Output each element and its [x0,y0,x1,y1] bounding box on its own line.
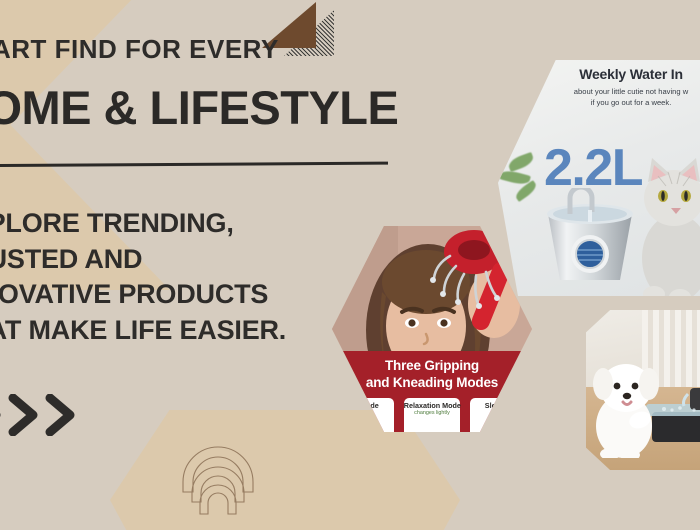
cat-photo-subtitle: about your little cutie not having w if … [536,86,700,108]
massager-caption-banner: Three Gripping and Kneading Modes [332,351,532,400]
mode-card-title: Relaxation Mode [404,401,460,410]
eyebrow-text: SMART FIND FOR EVERY [0,36,362,62]
massager-caption-line-2: and Kneading Modes [332,375,532,391]
chevron-right-icon [44,394,78,436]
mode-card-title: n Mode [338,401,394,410]
mode-card-title: Sleep P [470,401,526,410]
plant-leaf-decoration [507,152,536,172]
chevron-arrow-group [0,394,78,436]
cat-subtitle-line-1: about your little cutie not having w [536,86,700,97]
arch-outline-logo [173,446,263,520]
cat-photo-title: Weekly Water In [536,66,700,82]
cat-photo-caption: Weekly Water In about your little cutie … [536,66,700,108]
cat-subtitle-line-2: if you go out for a week. [536,97,700,108]
mode-card: Sleep P Light [470,398,526,432]
mode-card-subtitle: Light [470,410,526,416]
title-divider [0,162,388,168]
page-title: HOME & LIFESTYLE [0,84,362,132]
massager-caption-line-1: Three Gripping [332,358,532,374]
headline-block: SMART FIND FOR EVERY HOME & LIFESTYLE [0,36,362,132]
mode-card-subtitle: changes lightly [404,410,460,416]
subheadline-block: EXPLORE TRENDING, TRUSTED AND INNOVATIVE… [0,206,372,349]
subheadline-line-4: THAT MAKE LIFE EASIER. [0,313,372,349]
mode-card: Relaxation Mode changes lightly [404,398,460,432]
dog-water-fountain-photo [586,310,700,470]
subheadline-line-1: EXPLORE TRENDING, [0,206,372,242]
chevron-right-icon [7,394,41,436]
subheadline-line-3: INNOVATIVE PRODUCTS [0,277,372,313]
subheadline-line-2: TRUSTED AND [0,242,372,278]
grey-tabby-cat-icon [628,152,700,296]
cat-water-fountain-photo: Weekly Water In about your little cutie … [498,60,700,296]
promo-banner: SMART FIND FOR EVERY HOME & LIFESTYLE EX… [0,0,700,530]
chevron-right-icon [0,394,4,436]
white-maltese-puppy-icon [590,354,666,458]
